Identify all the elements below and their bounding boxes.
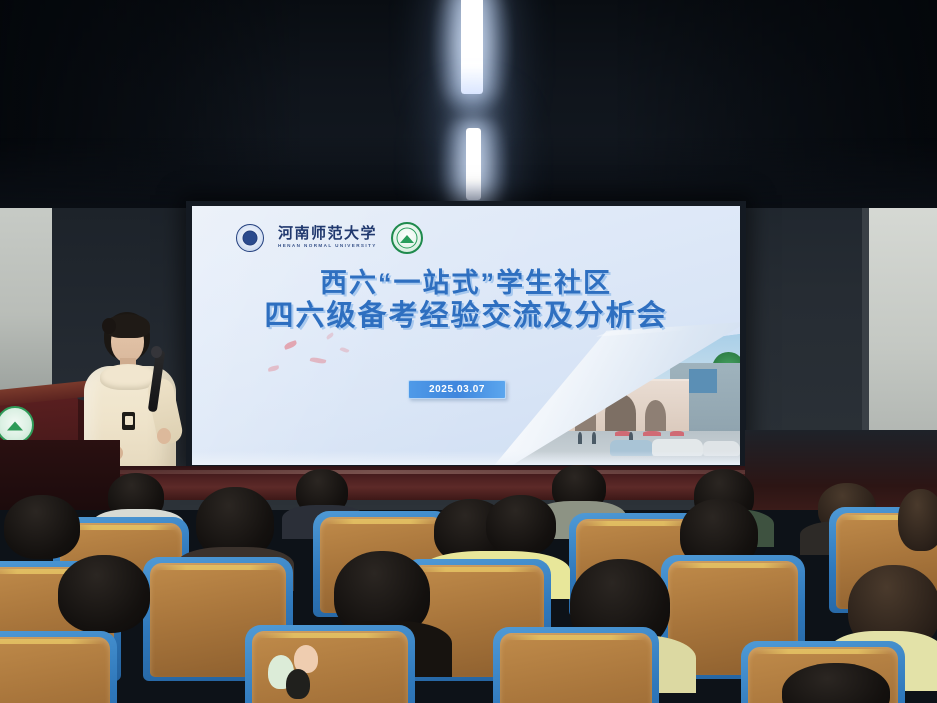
ceiling-light-fixture-back (466, 128, 481, 200)
slide-logos: 河南师范大学 HENAN NORMAL UNIVERSITY (236, 222, 423, 254)
auditorium-seat (0, 637, 110, 703)
hoodie-logo-icon (122, 412, 135, 430)
audience-area (0, 455, 937, 703)
figurine-toy (286, 669, 310, 699)
audience-head (58, 555, 150, 633)
petal-decoration-icon (283, 340, 297, 350)
slide-title-line1: 西六“一站式”学生社区 (192, 268, 740, 299)
ceiling-grid (0, 0, 937, 208)
audience-head (898, 489, 937, 551)
audience-head (486, 495, 556, 555)
slide-date-badge: 2025.03.07 (408, 380, 506, 399)
slide-date-text: 2025.03.07 (429, 384, 485, 395)
university-name-cn: 河南师范大学 (278, 227, 377, 242)
petal-decoration-icon (310, 356, 327, 365)
ceiling-light-fixture-front (461, 0, 483, 94)
presentation-slide: 河南师范大学 HENAN NORMAL UNIVERSITY 西六“一站式”学生… (192, 206, 740, 465)
university-seal-icon (236, 224, 264, 252)
petal-decoration-icon (340, 346, 350, 354)
university-name-en: HENAN NORMAL UNIVERSITY (278, 244, 377, 249)
auditorium-seat (500, 633, 652, 703)
slide-title-block: 西六“一站式”学生社区 四六级备考经验交流及分析会 (192, 268, 740, 334)
photo-scene: 河南师范大学 HENAN NORMAL UNIVERSITY 西六“一站式”学生… (0, 0, 937, 703)
petal-decoration-icon (268, 365, 280, 371)
community-emblem-icon (391, 222, 423, 254)
audience-head (4, 495, 80, 559)
left-wall-panel (0, 188, 52, 400)
slide-title-line2: 四六级备考经验交流及分析会 (192, 300, 740, 334)
